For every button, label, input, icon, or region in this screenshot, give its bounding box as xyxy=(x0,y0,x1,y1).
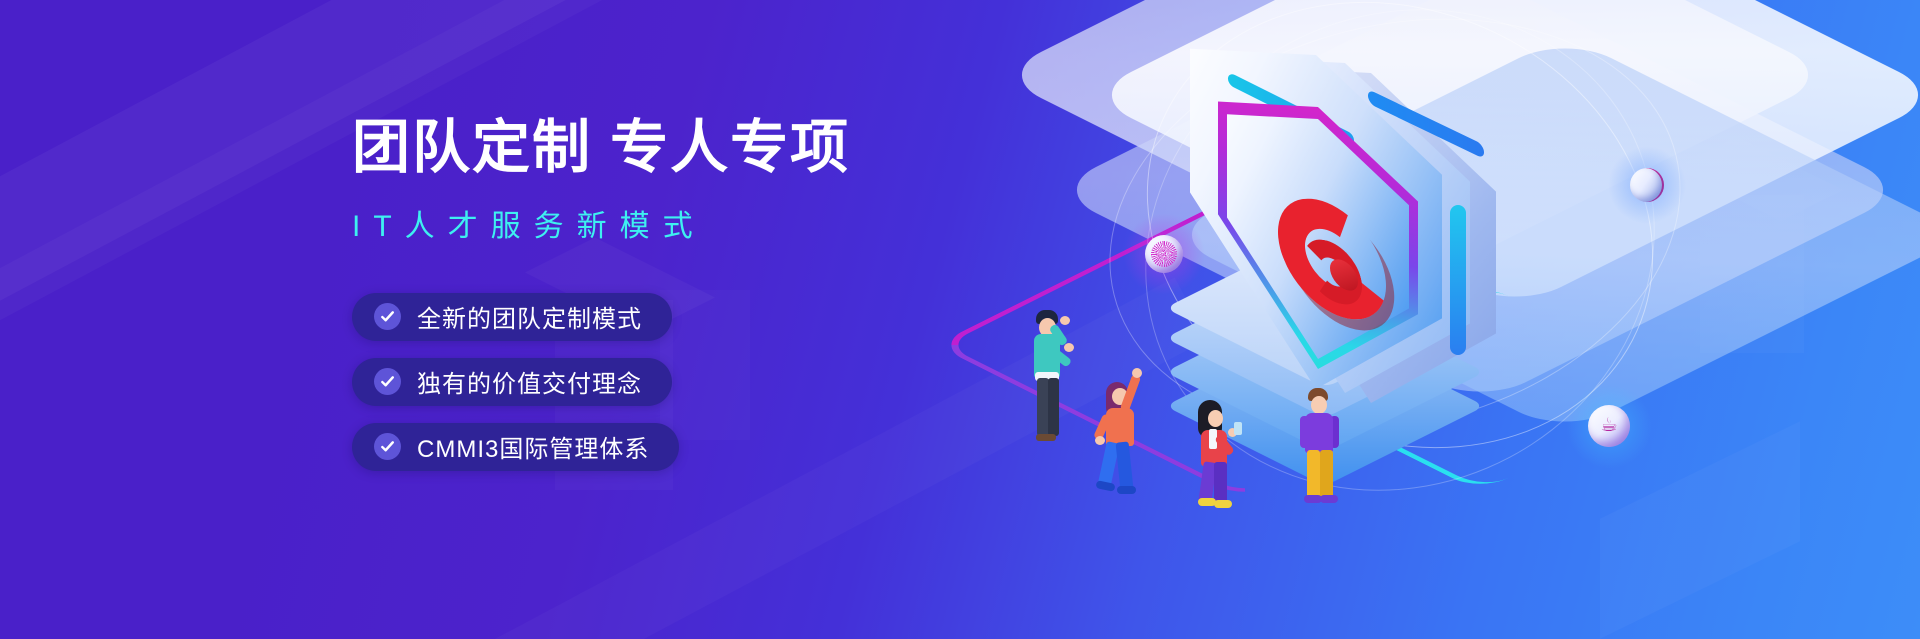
person-with-phone xyxy=(1190,398,1246,510)
check-icon xyxy=(374,368,401,395)
shoe xyxy=(1214,500,1232,508)
leg xyxy=(1320,450,1333,498)
shoe xyxy=(1036,434,1056,441)
head xyxy=(1311,396,1327,414)
feature-pill-label: 独有的价值交付理念 xyxy=(417,364,642,399)
feature-pill-3[interactable]: CMMI3国际管理体系 xyxy=(352,423,679,471)
red-spiral-logo xyxy=(1278,205,1408,355)
leg xyxy=(1048,378,1059,436)
background-iso-box xyxy=(1675,137,1843,221)
leg xyxy=(1214,462,1227,504)
feature-list: 全新的团队定制模式 独有的价值交付理念 CMMI3国际管理体系 xyxy=(352,293,972,471)
torso xyxy=(1305,413,1333,453)
leg xyxy=(1116,441,1134,490)
hand xyxy=(1095,436,1105,445)
node-sphere xyxy=(1630,168,1664,202)
torso xyxy=(1106,408,1134,446)
check-icon xyxy=(374,433,401,460)
hero-copy: 团队定制 专人专项 IT人才服务新模式 全新的团队定制模式 独有的价值交付理念 … xyxy=(352,118,972,471)
page-subtitle: IT人才服务新模式 xyxy=(352,201,972,245)
page-title: 团队定制 专人专项 xyxy=(352,118,972,179)
feature-pill-label: 全新的团队定制模式 xyxy=(417,299,642,334)
hand xyxy=(1060,316,1070,325)
node-sphere-body xyxy=(1630,168,1664,202)
leg xyxy=(1307,450,1320,498)
starburst-icon xyxy=(1151,241,1177,267)
person-presenter xyxy=(1024,310,1074,445)
shoe xyxy=(1117,486,1136,494)
feature-pill-1[interactable]: 全新的团队定制模式 xyxy=(352,293,672,341)
shield-bevel-stripe xyxy=(1450,205,1466,355)
person-standing xyxy=(1296,388,1344,508)
person-cheering xyxy=(1096,378,1158,496)
phone-icon xyxy=(1234,422,1242,435)
java-coffee-icon: ☕ xyxy=(1600,416,1617,435)
background-iso-box xyxy=(1700,195,1804,353)
node-starburst xyxy=(1145,235,1183,273)
node-java: ☕ xyxy=(1588,405,1630,447)
check-icon xyxy=(374,303,401,330)
shoe xyxy=(1320,495,1338,503)
head xyxy=(1208,410,1223,427)
security-shield xyxy=(1150,55,1570,455)
hand xyxy=(1064,343,1074,352)
node-sphere xyxy=(1145,235,1183,273)
shoe xyxy=(1095,480,1115,492)
feature-pill-label: CMMI3国际管理体系 xyxy=(417,429,649,464)
hero-banner: ☕ 团队定制 专人专项 IT人才服务新模式 全新的团队定制模式 独有的价值交付理… xyxy=(0,0,1920,639)
hand xyxy=(1132,368,1142,378)
node-sphere-body: ☕ xyxy=(1588,405,1630,447)
feature-pill-2[interactable]: 独有的价值交付理念 xyxy=(352,358,672,406)
